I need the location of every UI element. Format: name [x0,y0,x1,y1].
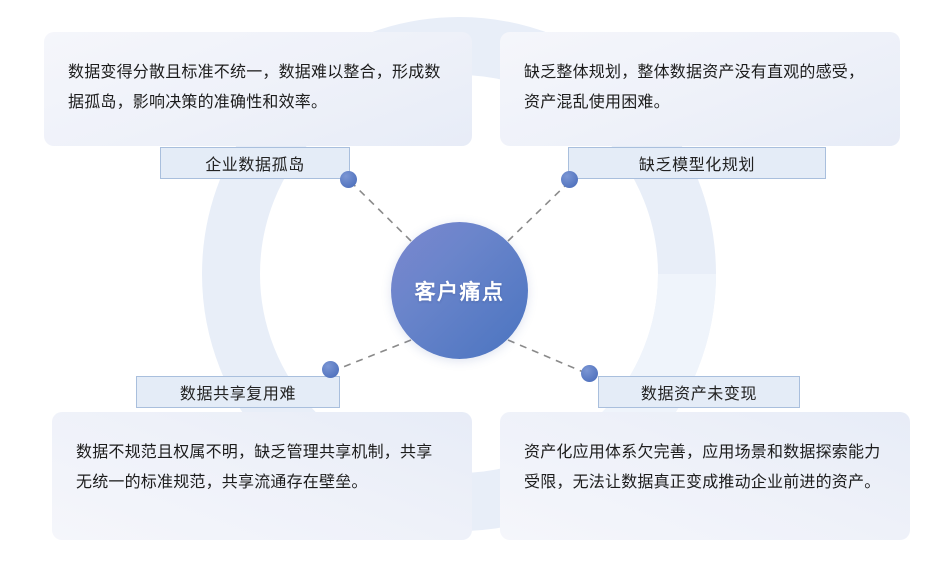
description-text-top-right: 缺乏整体规划，整体数据资产没有直观的感受，资产混乱使用困难。 [524,58,876,118]
node-title-label-top-right: 缺乏模型化规划 [639,151,755,175]
description-text-bottom-left: 数据不规范且权属不明，缺乏管理共享机制，共享无统一的标准规范，共享流通存在壁垒。 [76,438,448,498]
description-text-bottom-right: 资产化应用体系欠完善，应用场景和数据探索能力受限，无法让数据真正变成推动企业前进… [524,438,886,498]
node-title-label-bottom-left: 数据共享复用难 [180,380,296,404]
connector-line-top-left [351,182,411,241]
connector-dot-top-left [340,171,357,188]
node-title-label-bottom-right: 数据资产未变现 [641,380,757,404]
description-card-bottom-left: 数据不规范且权属不明，缺乏管理共享机制，共享无统一的标准规范，共享流通存在壁垒。 [52,412,472,540]
node-title-label-top-left: 企业数据孤岛 [205,151,305,175]
description-text-top-left: 数据变得分散且标准不统一，数据难以整合，形成数据孤岛，影响决策的准确性和效率。 [68,58,448,118]
node-title-chip-bottom-right[interactable]: 数据资产未变现 [598,376,800,408]
node-title-chip-top-right[interactable]: 缺乏模型化规划 [568,147,826,179]
description-card-top-left: 数据变得分散且标准不统一，数据难以整合，形成数据孤岛，影响决策的准确性和效率。 [44,32,472,146]
connector-dot-bottom-left [322,361,339,378]
center-hub-circle[interactable]: 客户痛点 [391,222,528,359]
connector-line-bottom-right [508,340,588,374]
connector-line-bottom-left [333,340,411,371]
description-card-top-right: 缺乏整体规划，整体数据资产没有直观的感受，资产混乱使用困难。 [500,32,900,146]
diagram-canvas: 数据变得分散且标准不统一，数据难以整合，形成数据孤岛，影响决策的准确性和效率。 … [0,0,937,576]
connector-dot-bottom-right [581,365,598,382]
description-card-bottom-right: 资产化应用体系欠完善，应用场景和数据探索能力受限，无法让数据真正变成推动企业前进… [500,412,910,540]
node-title-chip-top-left[interactable]: 企业数据孤岛 [160,147,350,179]
connector-line-top-right [508,182,569,241]
node-title-chip-bottom-left[interactable]: 数据共享复用难 [136,376,340,408]
connector-dot-top-right [561,171,578,188]
center-hub-label: 客户痛点 [415,276,505,306]
